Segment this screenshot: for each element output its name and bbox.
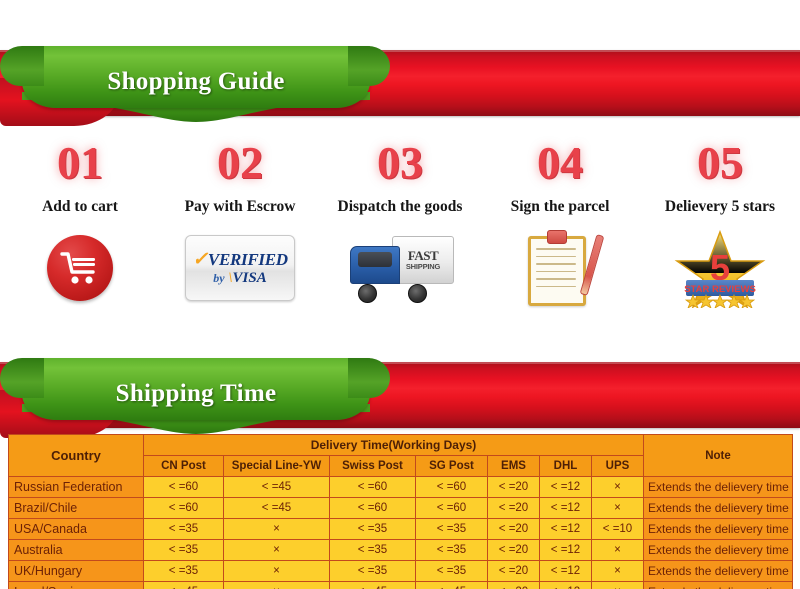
row-0-note: Extends the delievery time [644,477,793,498]
row-4-ups: × [592,561,644,582]
table-row: USA/Canada < =35 × < =35 < =35 < =20 < =… [9,519,793,540]
step-2-label: Pay with Escrow [160,198,320,216]
row-1-ups: × [592,498,644,519]
visa-visa-text: VISA [233,270,267,286]
step-5-icon-cell: 5 STAR REVIEWS [640,216,800,316]
truck-cab [350,246,400,284]
step-3: 03 Dispatch the goods [320,140,480,216]
table-header-ems: EMS [488,456,540,477]
step-5-label: Delievery 5 stars [640,198,800,216]
row-0-cn-post: < =60 [144,477,224,498]
row-0-ems: < =20 [488,477,540,498]
row-2-swiss-post: < =35 [330,519,416,540]
truck-shape: FAST SHIPPING [346,232,454,304]
truck-text-shipping: SHIPPING [406,262,440,271]
row-3-dhl: < =12 [540,540,592,561]
shipping-time-title: Shipping Time [22,374,370,414]
table-header-dhl: DHL [540,456,592,477]
row-0-dhl: < =12 [540,477,592,498]
step-5-number: 05 [640,140,800,186]
row-3-ups: × [592,540,644,561]
star-badge-svg: 5 STAR REVIEWS [674,228,766,308]
truck-cargo-box: FAST SHIPPING [392,236,454,284]
table-row: Brazil/Chile < =60 < =45 < =60 < =60 < =… [9,498,793,519]
row-3-country: Australia [9,540,144,561]
row-2-dhl: < =12 [540,519,592,540]
shipping-guide-page: Shopping Guide 01 Add to cart 02 Pay wit… [0,0,800,589]
step-1-label: Add to cart [0,198,160,216]
row-1-sg-post: < =60 [416,498,488,519]
table-header-country: Country [9,435,144,477]
table-header-ups: UPS [592,456,644,477]
row-2-ups: < =10 [592,519,644,540]
row-1-cn-post: < =60 [144,498,224,519]
step-4-number: 04 [480,140,640,186]
shipping-time-table: Country Delivery Time(Working Days) Note… [8,434,793,589]
step-2-icon-cell: ✓VERIFIED by \VISA [160,216,320,316]
row-2-ems: < =20 [488,519,540,540]
step-3-icon-cell: FAST SHIPPING [320,216,480,316]
visa-line1: ✓VERIFIED [192,250,287,269]
row-4-dhl: < =12 [540,561,592,582]
row-3-swiss-post: < =35 [330,540,416,561]
truck-window [358,252,392,267]
row-5-note: Extends the delievery time [644,582,793,589]
clipboard-lines [536,248,576,293]
truck-wheel-front [358,284,377,303]
clipboard-pen-icon [480,220,640,316]
cart-circle [47,235,113,301]
row-5-swiss-post: < =45 [330,582,416,589]
table-row: Australia < =35 × < =35 < =35 < =20 < =1… [9,540,793,561]
row-5-dhl: < =12 [540,582,592,589]
row-3-cn-post: < =35 [144,540,224,561]
row-4-cn-post: < =35 [144,561,224,582]
row-4-note: Extends the delievery time [644,561,793,582]
row-5-special-line: × [224,582,330,589]
step-2-number: 02 [160,140,320,186]
row-3-ems: < =20 [488,540,540,561]
row-3-sg-post: < =35 [416,540,488,561]
row-1-dhl: < =12 [540,498,592,519]
table-row: Israel/Spain < =45 × < =45 < =45 < =20 <… [9,582,793,589]
row-4-country: UK/Hungary [9,561,144,582]
step-2: 02 Pay with Escrow [160,140,320,216]
row-1-special-line: < =45 [224,498,330,519]
row-3-note: Extends the delievery time [644,540,793,561]
row-0-sg-post: < =60 [416,477,488,498]
row-1-note: Extends the delievery time [644,498,793,519]
table-row: Russian Federation < =60 < =45 < =60 < =… [9,477,793,498]
fast-shipping-truck-icon: FAST SHIPPING [320,220,480,316]
row-1-country: Brazil/Chile [9,498,144,519]
row-2-sg-post: < =35 [416,519,488,540]
shopping-guide-banner: Shopping Guide [0,22,800,126]
row-4-ems: < =20 [488,561,540,582]
row-1-swiss-post: < =60 [330,498,416,519]
table-header-note: Note [644,435,793,477]
shopping-guide-title: Shopping Guide [22,62,370,102]
step-numbers-row: 01 Add to cart 02 Pay with Escrow 03 Dis… [0,140,800,216]
row-3-special-line: × [224,540,330,561]
table-header-swiss-post: Swiss Post [330,456,416,477]
row-0-ups: × [592,477,644,498]
row-0-swiss-post: < =60 [330,477,416,498]
visa-verified-text: VERIFIED [208,250,288,269]
row-5-ems: < =20 [488,582,540,589]
visa-badge: ✓VERIFIED by \VISA [185,235,295,301]
shipping-time-table-wrap: Country Delivery Time(Working Days) Note… [8,434,792,589]
row-5-cn-post: < =45 [144,582,224,589]
step-5: 05 Delievery 5 stars [640,140,800,216]
row-4-special-line: × [224,561,330,582]
row-5-sg-post: < =45 [416,582,488,589]
row-2-country: USA/Canada [9,519,144,540]
step-4: 04 Sign the parcel [480,140,640,216]
row-4-swiss-post: < =35 [330,561,416,582]
row-2-special-line: × [224,519,330,540]
truck-text-fast: FAST [408,249,438,262]
row-2-note: Extends the delievery time [644,519,793,540]
clipboard-shape [528,230,592,306]
table-header-sg-post: SG Post [416,456,488,477]
row-1-ems: < =20 [488,498,540,519]
star-badge-ribbon-text: STAR REVIEWS [684,284,756,295]
step-3-number: 03 [320,140,480,186]
five-star-reviews-icon: 5 STAR REVIEWS [640,220,800,316]
steps-section: 01 Add to cart 02 Pay with Escrow 03 Dis… [0,140,800,316]
clipboard-clip [547,230,567,244]
step-3-label: Dispatch the goods [320,198,480,216]
row-2-cn-post: < =35 [144,519,224,540]
step-1-icon-cell [0,216,160,316]
cart-glyph [60,250,100,286]
row-0-country: Russian Federation [9,477,144,498]
verified-by-visa-icon: ✓VERIFIED by \VISA [160,220,320,316]
table-header-special-line: Special Line-YW [224,456,330,477]
row-5-country: Israel/Spain [9,582,144,589]
shipping-time-banner: Shipping Time [0,334,800,438]
visa-check-icon: ✓ [192,249,208,270]
visa-by-text: by [213,271,224,285]
step-1-number: 01 [0,140,160,186]
row-0-special-line: < =45 [224,477,330,498]
row-5-ups: × [592,582,644,589]
visa-line2: by \VISA [213,269,266,287]
step-4-icon-cell [480,216,640,316]
star-badge-shape: 5 STAR REVIEWS [674,228,766,308]
table-row: UK/Hungary < =35 × < =35 < =35 < =20 < =… [9,561,793,582]
step-icons-row: ✓VERIFIED by \VISA FAST SHIPPING [0,216,800,316]
table-header-cn-post: CN Post [144,456,224,477]
step-4-label: Sign the parcel [480,198,640,216]
truck-wheel-rear [408,284,427,303]
step-1: 01 Add to cart [0,140,160,216]
shopping-cart-icon [0,220,160,316]
row-4-sg-post: < =35 [416,561,488,582]
